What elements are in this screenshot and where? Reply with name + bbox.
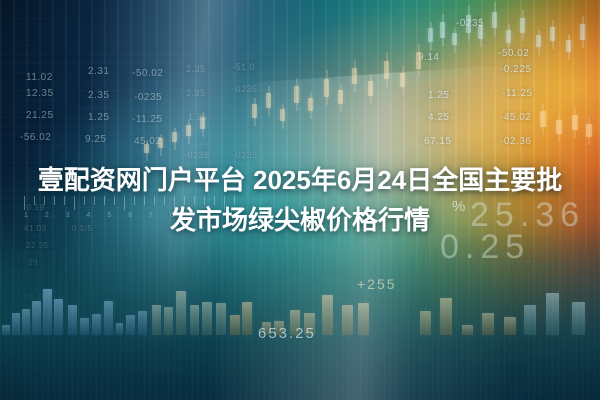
page-title-line-2: 发市场绿尖椒价格行情 [22, 200, 578, 240]
banner-image: 11.0212.3521.25-56.022.312.351.259.25-50… [0, 0, 600, 400]
page-title-line-1: 壹配资网门户平台 2025年6月24日全国主要批 [22, 160, 578, 200]
page-title: 壹配资网门户平台 2025年6月24日全国主要批 发市场绿尖椒价格行情 [0, 160, 600, 240]
